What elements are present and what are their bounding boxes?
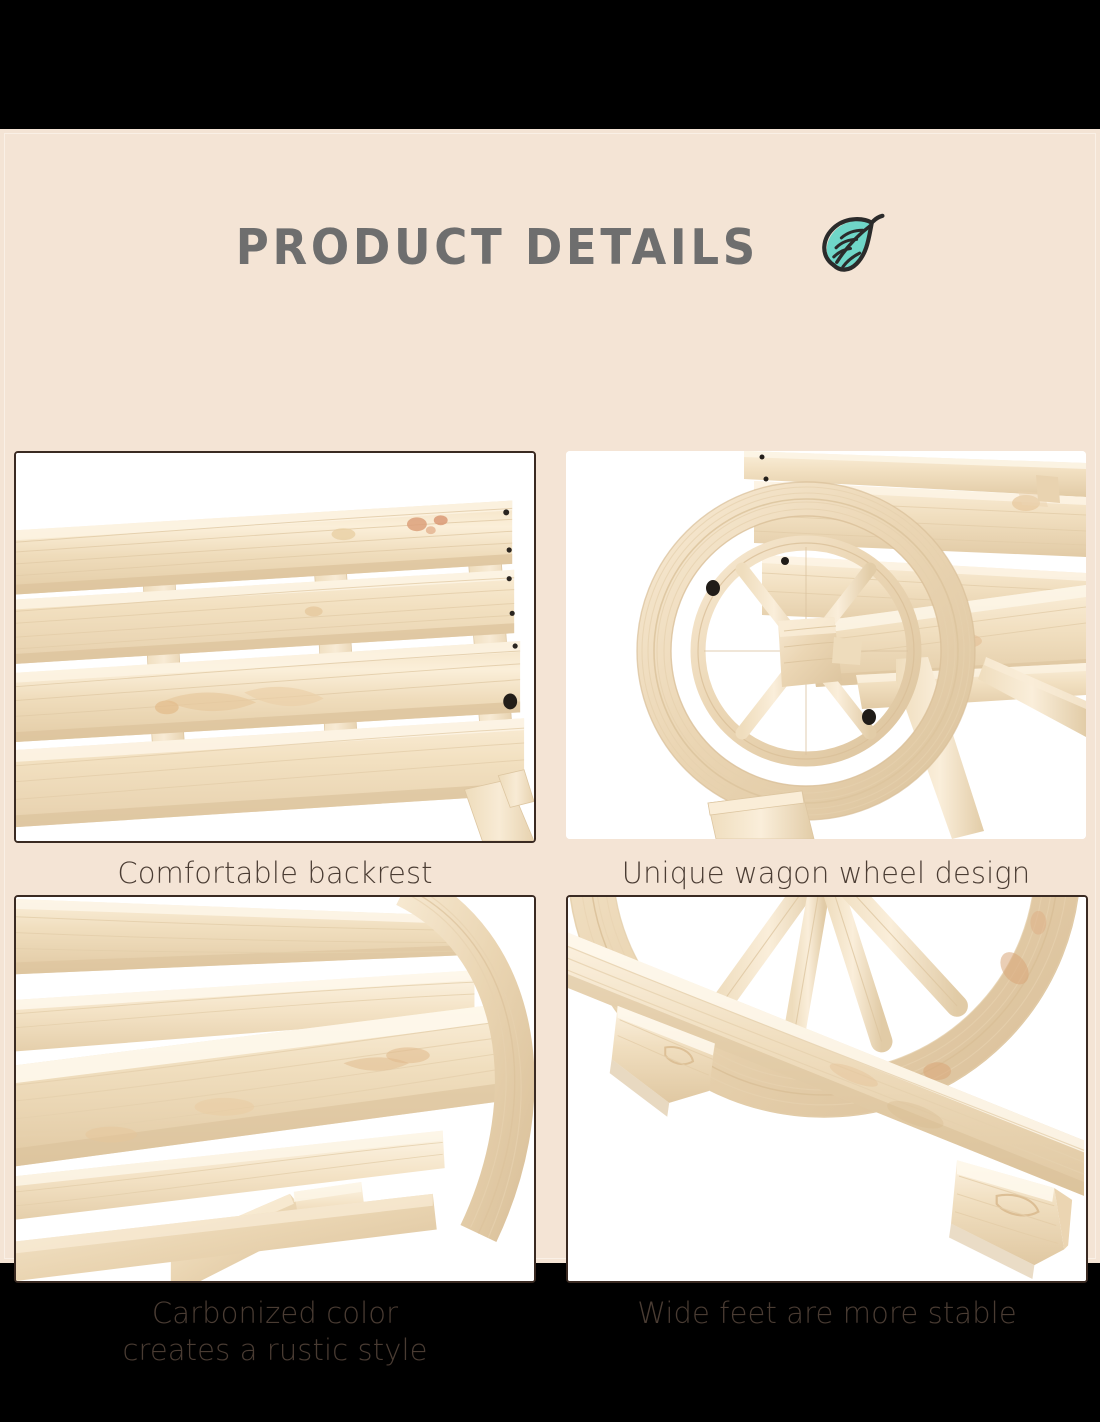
panel-grid: Comfortable backrest: [0, 129, 1100, 1263]
caption-line: Unique wagon wheel design: [566, 855, 1086, 892]
panel-image-frame: [14, 451, 536, 843]
bench-seat-photo: [16, 897, 534, 1281]
panel-image-frame: [566, 895, 1088, 1283]
panel-caption: Wide feet are more stable: [566, 1295, 1088, 1332]
panel-caption: Unique wagon wheel design: [566, 855, 1086, 892]
caption-line: Comfortable backrest: [14, 855, 536, 892]
caption-line: creates a rustic style: [14, 1332, 536, 1369]
panel-caption: Comfortable backrest: [14, 855, 536, 892]
bench-backrest-photo: [16, 453, 534, 841]
wagon-wheel-photo: [566, 451, 1086, 839]
wide-feet-photo: [568, 897, 1086, 1281]
caption-line: Wide feet are more stable: [566, 1295, 1088, 1332]
panel-image-frame: [14, 895, 536, 1283]
content-background: PRODUCT DETAILS: [0, 129, 1100, 1263]
product-details-page: PRODUCT DETAILS: [0, 0, 1100, 1422]
panel-image-frame: [566, 451, 1086, 839]
panel-caption: Carbonized color creates a rustic style: [14, 1295, 536, 1369]
caption-line: Carbonized color: [14, 1295, 536, 1332]
